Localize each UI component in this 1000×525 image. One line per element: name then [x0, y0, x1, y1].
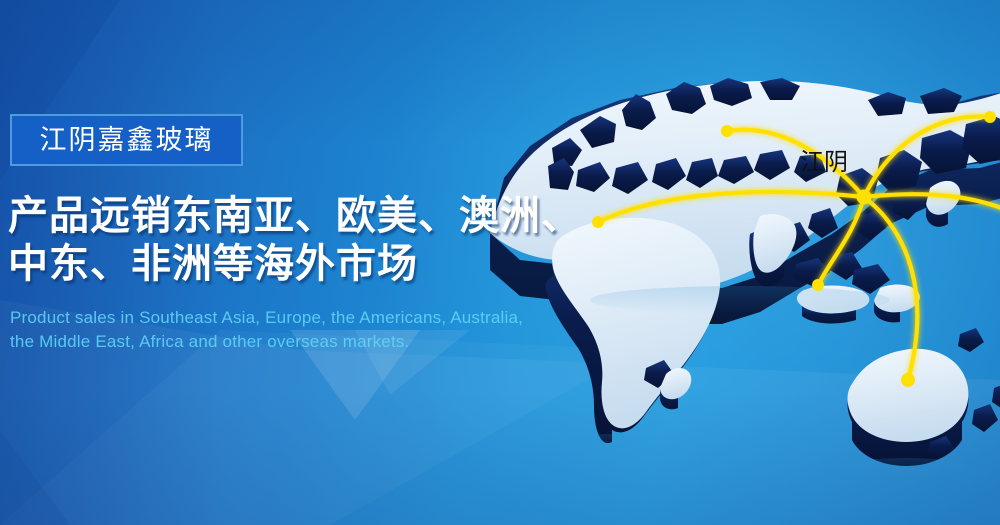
landmass-australia	[848, 349, 969, 466]
node-hub-jiangyin	[857, 190, 872, 205]
node-australia	[901, 373, 915, 387]
subtitle: Product sales in Southeast Asia, Europe,…	[10, 306, 610, 354]
node-north-europe	[721, 125, 733, 137]
promo-banner: 江阴 江阴嘉鑫玻璃 产品远销东南亚、欧美、澳洲、 中东、非洲等海外市场 Prod…	[0, 0, 1000, 525]
node-southeast-asia	[812, 279, 824, 291]
subtitle-line-2: the Middle East, Africa and other overse…	[10, 330, 610, 354]
headline: 产品远销东南亚、欧美、澳洲、 中东、非洲等海外市场	[8, 192, 628, 288]
subtitle-line-1: Product sales in Southeast Asia, Europe,…	[10, 306, 610, 330]
landmass-japan	[926, 181, 960, 227]
headline-line-1: 产品远销东南亚、欧美、澳洲、	[8, 192, 628, 240]
hub-label-jiangyin: 江阴	[800, 148, 848, 176]
brand-badge-label: 江阴嘉鑫玻璃	[40, 127, 214, 154]
headline-line-2: 中东、非洲等海外市场	[8, 240, 628, 288]
node-northeast-pacific	[984, 111, 996, 123]
brand-badge: 江阴嘉鑫玻璃	[10, 114, 243, 166]
